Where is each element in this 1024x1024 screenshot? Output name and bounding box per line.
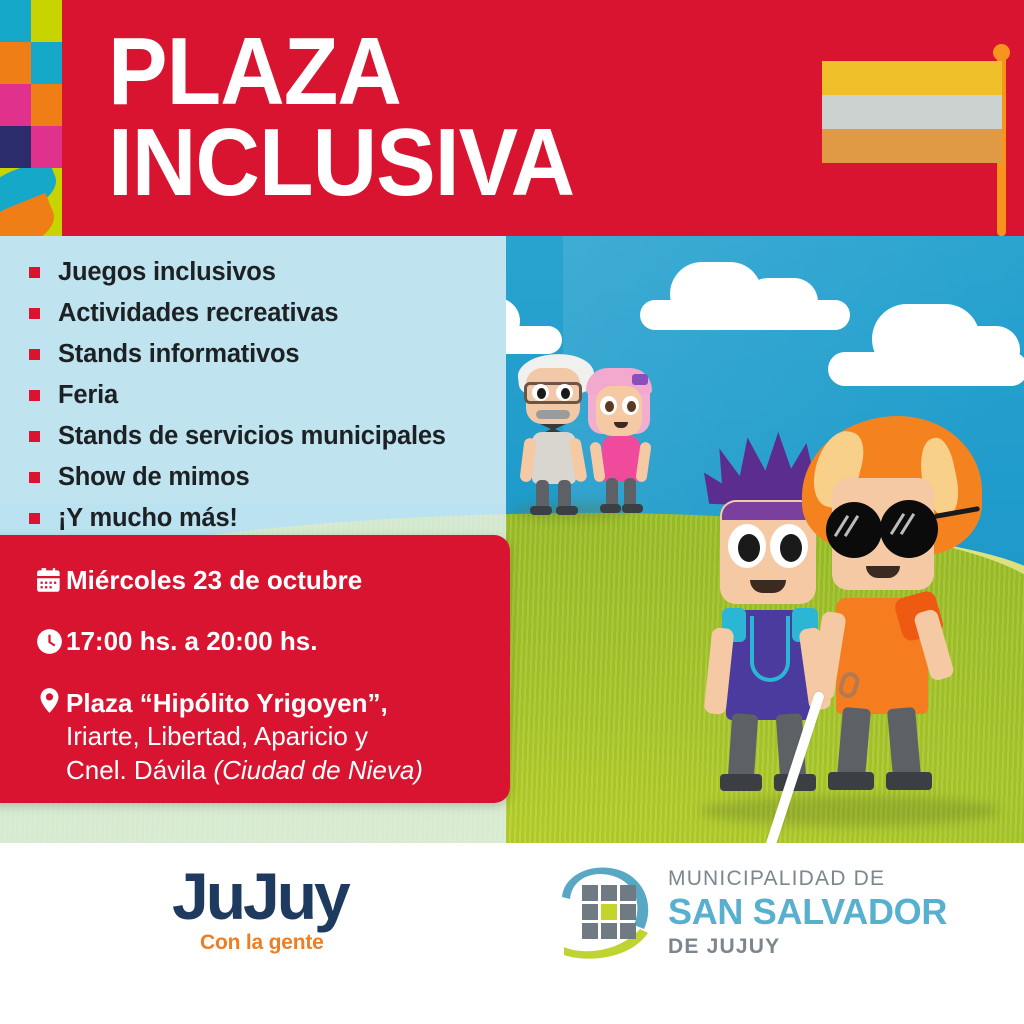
grid-cell <box>582 923 598 939</box>
leg <box>837 707 871 779</box>
cloud-icon <box>828 304 1024 386</box>
leg <box>887 707 921 779</box>
person-with-white-cane <box>810 426 990 806</box>
jujuy-logo-tagline: Con la gente <box>200 931 324 955</box>
grid-cell <box>601 885 617 901</box>
grid-cell <box>620 923 636 939</box>
bullet-square-icon <box>29 472 40 483</box>
location-line-1: Plaza “Hipólito Yrigoyen”, <box>66 688 388 718</box>
flag-cloth <box>822 61 1002 163</box>
mosaic-cell <box>31 84 62 126</box>
mosaic-cell <box>0 0 31 42</box>
location-line-3-italic: (Ciudad de Nieva) <box>213 755 423 785</box>
poster-footer: JuJuy Con la gente <box>0 843 1024 1024</box>
bullet-square-icon <box>29 308 40 319</box>
event-time-text: 17:00 hs. a 20:00 hs. <box>66 628 317 654</box>
jujuy-logo: JuJuy Con la gente <box>172 863 402 973</box>
mosaic-cell <box>0 126 31 168</box>
location-line-3: Cnel. Dávila <box>66 755 213 785</box>
poster-root: PLAZA INCLUSIVA <box>0 0 1024 1024</box>
flag-stripe <box>822 129 1002 163</box>
cap-badge <box>632 374 648 385</box>
calendar-icon <box>32 567 66 594</box>
map-pin-icon <box>32 687 66 714</box>
girl-with-pink-cap <box>588 372 660 512</box>
list-item: ¡Y mucho más! <box>0 498 506 539</box>
elderly-man-with-glasses <box>516 360 596 510</box>
torso <box>602 436 640 482</box>
pupil <box>605 401 614 412</box>
bullet-square-icon <box>29 513 40 524</box>
jujuy-logo-word: JuJuy <box>172 863 402 929</box>
shoe <box>720 774 762 791</box>
bullet-square-icon <box>29 431 40 442</box>
event-time-row: 17:00 hs. a 20:00 hs. <box>32 628 317 655</box>
list-item-label: Actividades recreativas <box>58 299 338 328</box>
sunglasses-icon <box>880 500 938 558</box>
municipality-logo-mark <box>552 863 660 959</box>
mosaic-cell <box>0 42 31 84</box>
leg <box>728 713 759 781</box>
grid-cell <box>620 904 636 920</box>
shoe <box>622 504 643 513</box>
flag-stripe <box>822 61 1002 95</box>
mosaic-cell <box>0 84 31 126</box>
municipality-line-3: DE JUJUY <box>668 935 780 959</box>
municipality-line-2: SAN SALVADOR <box>668 891 947 933</box>
shoe <box>828 772 874 790</box>
list-item: Feria <box>0 375 506 416</box>
list-item: Show de mimos <box>0 457 506 498</box>
event-date-text: Miércoles 23 de octubre <box>66 567 362 593</box>
list-item: Juegos inclusivos <box>0 252 506 293</box>
bullet-square-icon <box>29 349 40 360</box>
mosaic-leaf-group <box>0 168 62 236</box>
pupil <box>561 388 570 399</box>
municipality-grid-icon <box>582 885 636 939</box>
pupil <box>738 534 760 562</box>
pupil <box>537 388 546 399</box>
event-location-row: Plaza “Hipólito Yrigoyen”, Iriarte, Libe… <box>32 687 423 787</box>
flag-icon <box>817 36 1022 236</box>
bullet-square-icon <box>29 267 40 278</box>
grid-cell <box>582 904 598 920</box>
list-item: Stands de servicios municipales <box>0 416 506 457</box>
bullet-square-icon <box>29 390 40 401</box>
shoe <box>556 506 578 515</box>
pupil <box>627 401 636 412</box>
list-item-label: Show de mimos <box>58 463 250 492</box>
grid-cell-accent <box>601 904 617 920</box>
activities-list: Juegos inclusivos Actividades recreativa… <box>0 252 506 539</box>
list-item-label: Juegos inclusivos <box>58 258 276 287</box>
title-line-2: INCLUSIVA <box>108 117 759 208</box>
event-date-row: Miércoles 23 de octubre <box>32 567 362 594</box>
shoe <box>886 772 932 790</box>
list-item-label: ¡Y mucho más! <box>58 504 238 533</box>
flag-stripe <box>822 95 1002 129</box>
decorative-mosaic <box>0 0 62 236</box>
lanyard <box>750 616 790 682</box>
clock-icon <box>32 628 66 655</box>
municipality-logo: MUNICIPALIDAD DE SAN SALVADOR DE JUJUY <box>552 859 952 969</box>
event-location-text: Plaza “Hipólito Yrigoyen”, Iriarte, Libe… <box>66 687 423 787</box>
glasses-bridge <box>876 522 886 527</box>
poster-header: PLAZA INCLUSIVA <box>0 0 1024 236</box>
list-item-label: Stands de servicios municipales <box>58 422 446 451</box>
event-info-card: Miércoles 23 de octubre 17:00 hs. a 20:0… <box>0 535 510 803</box>
grid-cell <box>620 885 636 901</box>
municipality-line-1: MUNICIPALIDAD DE <box>668 867 885 891</box>
cloud-icon <box>640 258 850 330</box>
list-item-label: Stands informativos <box>58 340 299 369</box>
list-item-label: Feria <box>58 381 118 410</box>
mustache <box>536 410 570 419</box>
hairline <box>722 502 814 520</box>
list-item: Actividades recreativas <box>0 293 506 334</box>
location-line-2: Iriarte, Libertad, Aparicio y <box>66 721 368 751</box>
mosaic-cell <box>31 0 62 42</box>
grid-cell <box>601 923 617 939</box>
mosaic-cell <box>31 126 62 168</box>
pupil <box>780 534 802 562</box>
shoe <box>600 504 621 513</box>
list-item: Stands informativos <box>0 334 506 375</box>
grid-cell <box>582 885 598 901</box>
title-line-1: PLAZA <box>108 26 759 117</box>
sunglasses-icon <box>826 502 882 558</box>
mosaic-cell <box>31 42 62 84</box>
shoe <box>530 506 552 515</box>
poster-title: PLAZA INCLUSIVA <box>108 26 808 208</box>
